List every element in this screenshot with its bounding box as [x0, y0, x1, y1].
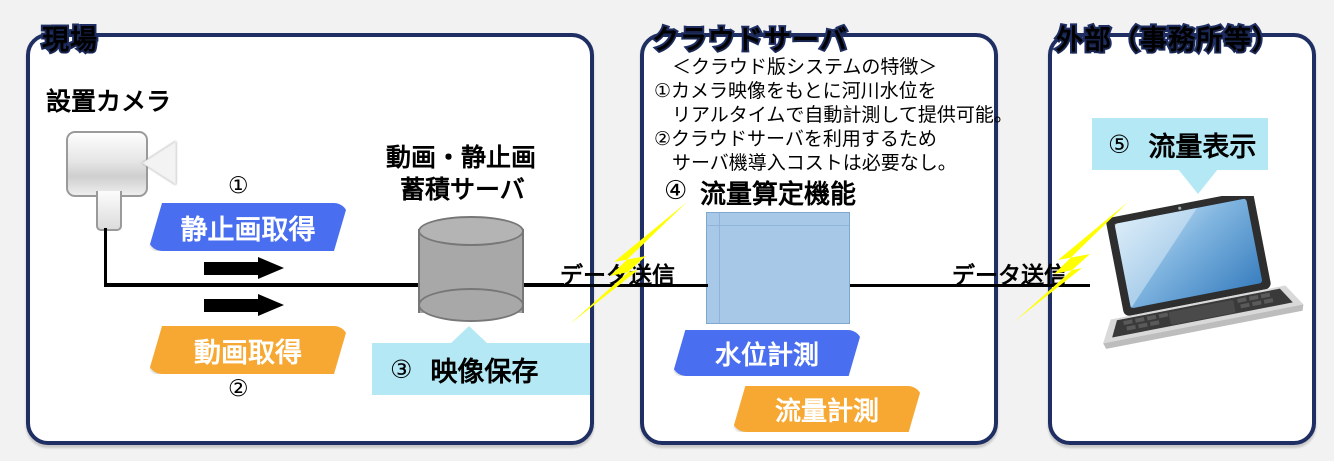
panel-external-title: 外部（事務所等）: [1056, 18, 1280, 57]
cloud-feature-1b: リアルタイムで自動計測して提供可能。: [672, 100, 1013, 127]
chip-still-image-capture[interactable]: 静止画取得: [148, 203, 348, 251]
camera-lens-inner: [144, 143, 175, 183]
cloud-function-label: 流量算定機能: [700, 174, 856, 211]
diagram-canvas: 現場 設置カメラ ① ② 静止画取得 動画取得 動画・静止画 蓄積サーバ ③ 映…: [0, 0, 1334, 461]
chip-water-level-measurement[interactable]: 水位計測: [672, 330, 862, 376]
storage-server-label-line1: 動画・静止画: [386, 138, 536, 174]
camera-cable: [104, 228, 107, 284]
panel-cloud-title: クラウドサーバ: [652, 18, 848, 57]
cylinder-bottom: [418, 288, 524, 322]
chip-video-capture[interactable]: 動画取得: [148, 326, 348, 374]
flow-calculation-window: [706, 212, 850, 324]
panel-site-title: 現場: [42, 18, 98, 57]
step-1-number: ①: [228, 173, 249, 199]
cloud-feature-2b: サーバ機導入コストは必要なし。: [672, 148, 957, 175]
step-2-number: ②: [228, 376, 249, 402]
lightning-bolt-icon-left: [550, 198, 700, 328]
cloud-feature-1a: ①カメラ映像をもとに河川水位を: [654, 76, 937, 103]
storage-server-label-line2: 蓄積サーバ: [400, 170, 525, 206]
callout-disp-number: ⑤: [1108, 130, 1130, 159]
callout-tail: [450, 326, 488, 344]
camera-label: 設置カメラ: [46, 82, 171, 118]
chip-flow-measurement[interactable]: 流量計測: [732, 386, 922, 432]
lightning-bolt-icon-right: [1000, 198, 1140, 328]
database-cylinder-icon: [418, 216, 524, 326]
callout-tail: [1178, 169, 1218, 194]
camera-stand: [96, 191, 122, 231]
right-arrow-icon-still: [204, 257, 286, 279]
callout-video-storage: ③ 映像保存: [372, 343, 590, 395]
video-camera-icon: [66, 127, 186, 207]
callout-disp-text: 流量表示: [1148, 125, 1256, 164]
camera-body: [66, 131, 148, 197]
callout-flow-display: ⑤ 流量表示: [1092, 118, 1268, 170]
cylinder-top: [418, 216, 524, 246]
callout-save-text: 映像保存: [430, 350, 538, 389]
callout-save-number: ③: [390, 355, 412, 384]
cloud-feature-2a: ②クラウドサーバを利用するため: [654, 124, 937, 151]
right-arrow-icon-movie: [204, 294, 286, 316]
